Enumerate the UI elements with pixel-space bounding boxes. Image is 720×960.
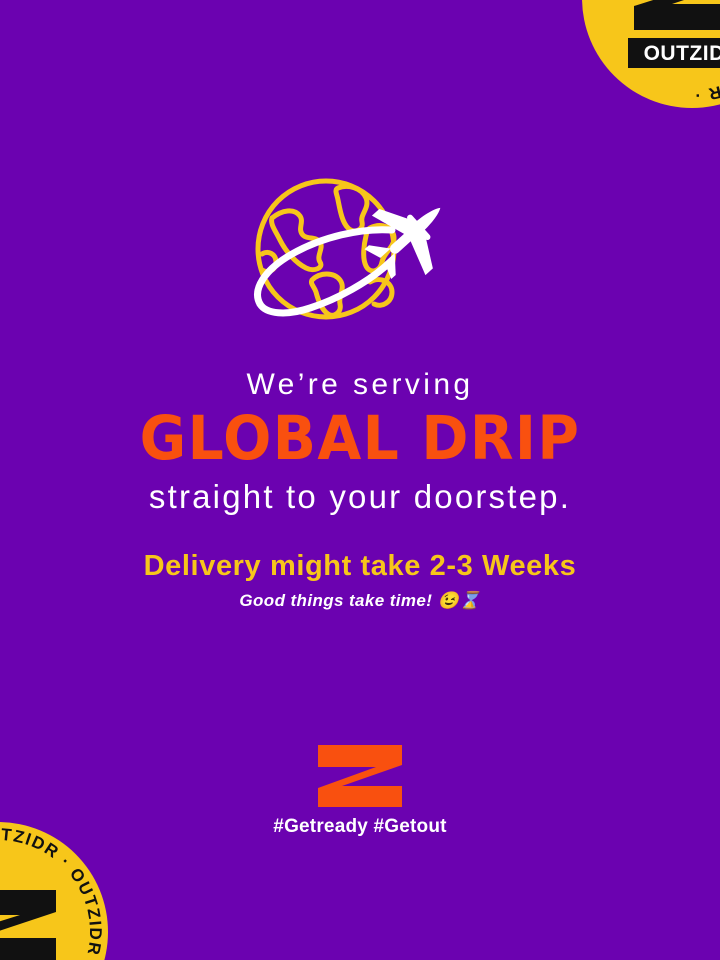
delivery-tagline-text: Good things take time! 😉⌛ bbox=[0, 589, 720, 613]
seal-wordmark: OUTZIDR bbox=[644, 42, 720, 65]
headline-line-doorstep: straight to your doorstep. bbox=[0, 476, 720, 518]
headline-line-global-drip: GLOBAL DRIP bbox=[25, 406, 695, 472]
headline-block: We’re serving GLOBAL DRIP straight to yo… bbox=[0, 366, 720, 518]
seal-graphic-top-right: OUTZIDR · OUTZIDR · OUTZIDR · OUTZIDR · … bbox=[576, 0, 720, 114]
footer-block: #Getready #Getout bbox=[0, 745, 720, 838]
headline-line-serving: We’re serving bbox=[0, 366, 720, 404]
seal-z-mark bbox=[634, 0, 720, 30]
delivery-block: Delivery might take 2-3 Weeks Good thing… bbox=[0, 548, 720, 613]
outzidr-seal-top-right: OUTZIDR · OUTZIDR · OUTZIDR · OUTZIDR · … bbox=[576, 0, 720, 114]
globe-airplane-icon bbox=[242, 172, 478, 334]
poster-canvas: OUTZIDR · OUTZIDR · OUTZIDR · OUTZIDR · … bbox=[0, 0, 720, 960]
delivery-estimate-text: Delivery might take 2-3 Weeks bbox=[0, 548, 720, 584]
z-logo-shape bbox=[318, 745, 402, 807]
hero-icon-area bbox=[0, 172, 720, 334]
footer-hashtags: #Getready #Getout bbox=[0, 816, 720, 838]
z-logo-mark bbox=[318, 745, 402, 807]
